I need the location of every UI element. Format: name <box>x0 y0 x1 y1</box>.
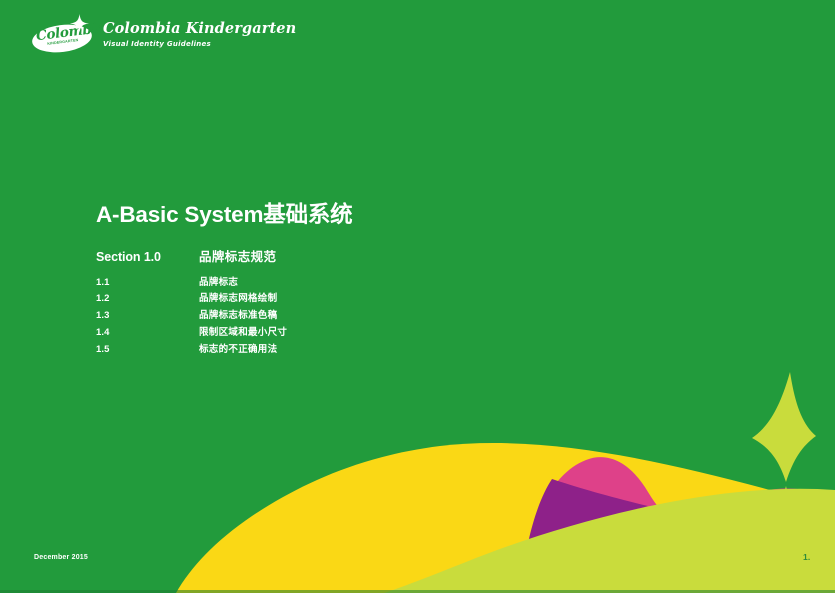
toc-item[interactable]: 1.3 品牌标志标准色稿 <box>96 311 526 321</box>
toc-item-number: 1.4 <box>96 328 199 338</box>
toc-item[interactable]: 1.5 标志的不正确用法 <box>96 345 526 355</box>
sparkle-star-large <box>752 372 816 482</box>
table-of-contents: 1.1 品牌标志 1.2 品牌标志网格绘制 1.3 品牌标志标准色稿 1.4 限… <box>96 278 526 354</box>
toc-item-label: 品牌标志网格绘制 <box>199 294 277 304</box>
toc-item-number: 1.5 <box>96 345 199 355</box>
pink-wave-shape <box>528 457 835 546</box>
toc-item-number: 1.2 <box>96 294 199 304</box>
brand-name: Colombia Kindergarten <box>103 21 296 38</box>
toc-item-number: 1.1 <box>96 278 199 288</box>
yellow-hill-shape <box>176 443 835 593</box>
section-label: 品牌标志规范 <box>199 250 276 265</box>
section-heading: Section 1.0 品牌标志规范 <box>96 250 526 265</box>
slide-page: Colombia KINDERGARTEN Colombia Kindergar… <box>0 0 835 593</box>
toc-item[interactable]: 1.1 品牌标志 <box>96 278 526 288</box>
purple-overlap-shape <box>528 479 648 543</box>
toc-item-label: 品牌标志标准色稿 <box>199 311 277 321</box>
page-number: 1. <box>803 552 811 562</box>
brand-lockup: Colombia KINDERGARTEN Colombia Kindergar… <box>30 14 296 56</box>
brand-text-group: Colombia Kindergarten Visual Identity Gu… <box>103 21 296 48</box>
brand-tagline: Visual Identity Guidelines <box>103 40 296 48</box>
section-number: Section 1.0 <box>96 250 199 265</box>
toc-item[interactable]: 1.2 品牌标志网格绘制 <box>96 294 526 304</box>
toc-item-label: 限制区域和最小尺寸 <box>199 328 287 338</box>
page-title: A-Basic System基础系统 <box>96 203 526 228</box>
content-block: A-Basic System基础系统 Section 1.0 品牌标志规范 1.… <box>96 203 526 361</box>
colombia-logo-mark: Colombia KINDERGARTEN <box>30 14 94 56</box>
toc-item-label: 标志的不正确用法 <box>199 345 277 355</box>
toc-item[interactable]: 1.4 限制区域和最小尺寸 <box>96 328 526 338</box>
toc-item-number: 1.3 <box>96 311 199 321</box>
lime-hill-shape <box>384 489 835 593</box>
footer-date: December 2015 <box>34 554 88 561</box>
sparkle-star-small <box>759 486 808 566</box>
toc-item-label: 品牌标志 <box>199 278 238 288</box>
logo-star-icon <box>70 14 89 33</box>
